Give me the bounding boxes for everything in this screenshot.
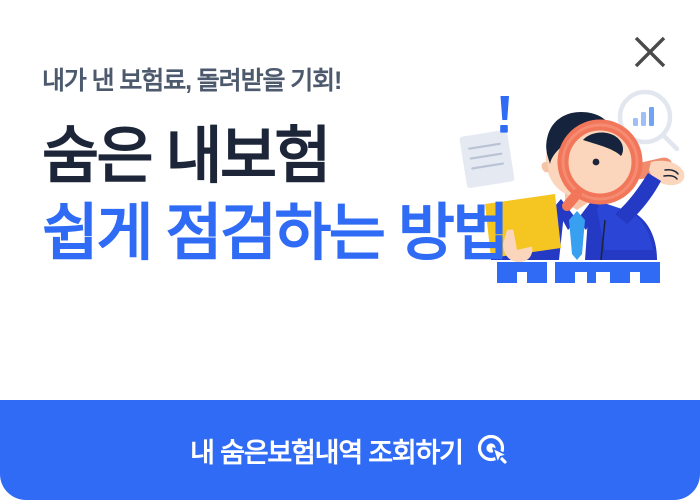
search-cursor-icon (476, 433, 510, 467)
cta-label: 내 숨은보험내역 조회하기 (190, 431, 463, 470)
banner-text-block: 내가 낸 보험료, 돌려받을 기회! 숨은 내보험 쉽게 점검하는 방법 (42, 68, 507, 266)
promo-banner-card: 내가 낸 보험료, 돌려받을 기회! 숨은 내보험 쉽게 점검하는 방법 (0, 0, 700, 500)
banner-headline-line2: 쉽게 점검하는 방법 (42, 201, 507, 266)
banner-subtitle: 내가 낸 보험료, 돌려받을 기회! (42, 68, 507, 96)
banner-headline-line1: 숨은 내보험 (42, 124, 507, 189)
blue-bar-base (497, 262, 660, 283)
close-button[interactable] (628, 30, 672, 74)
close-x-icon (628, 30, 672, 74)
cta-button-bar[interactable]: 내 숨은보험내역 조회하기 (0, 400, 700, 500)
orange-magnifier-icon (561, 123, 639, 206)
